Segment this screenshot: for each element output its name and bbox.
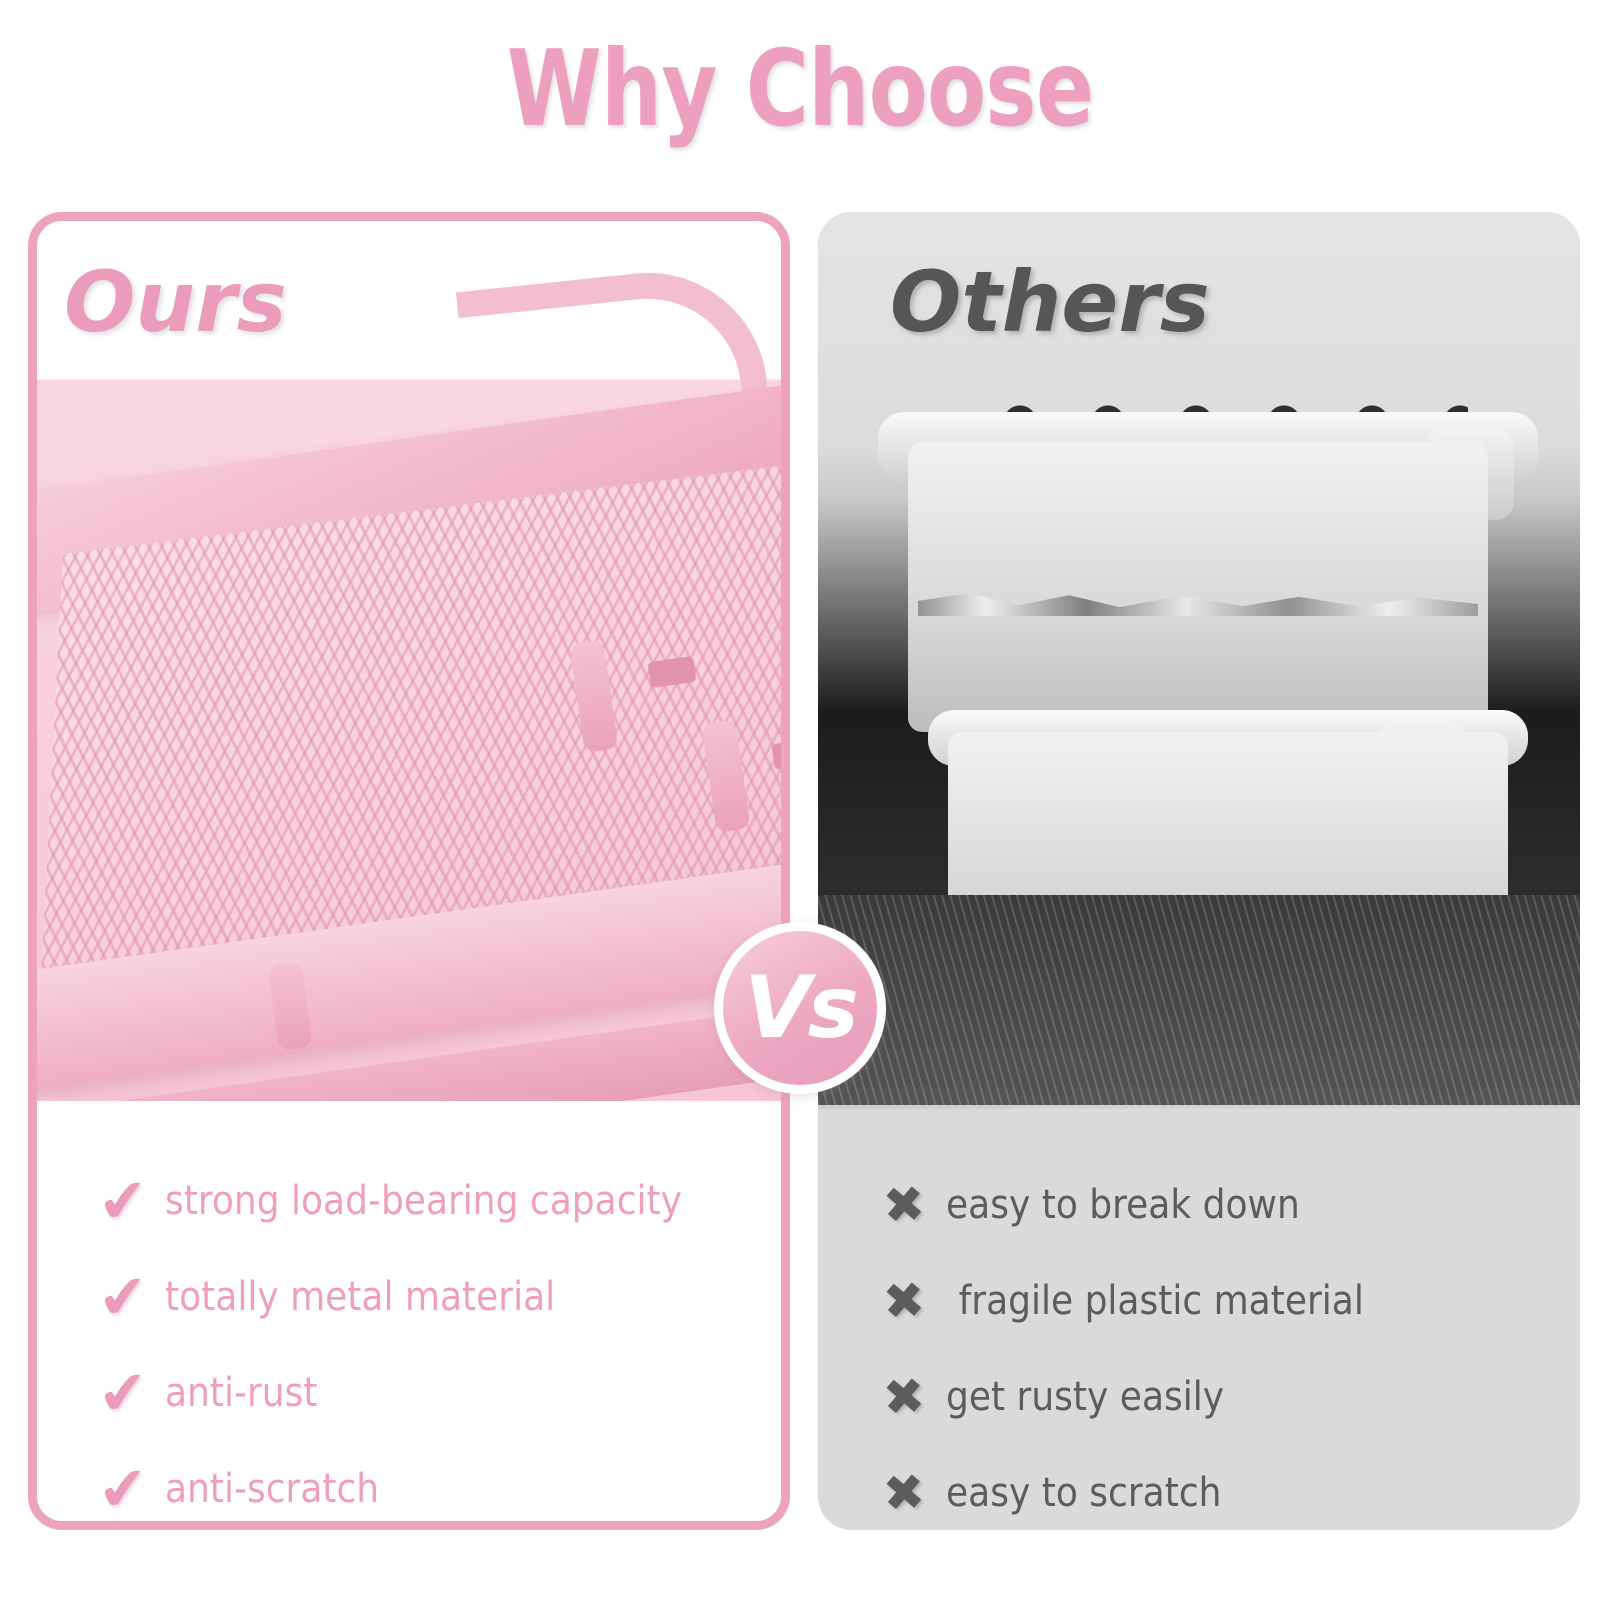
cross-icon: ✖ <box>860 1465 947 1521</box>
check-icon: ✔ <box>76 1264 170 1331</box>
ours-feature-label: anti-rust <box>165 1370 317 1416</box>
ours-feature-label: anti-scratch <box>165 1466 379 1512</box>
check-icon: ✔ <box>76 1360 170 1427</box>
ours-panel: ✔ strong load-bearing capacity ✔ totally… <box>28 212 790 1530</box>
page-title: Why Choose <box>144 28 1456 150</box>
basket-upper-body <box>908 442 1488 732</box>
others-feature-list: ✖ easy to break down ✖ fragile plastic m… <box>818 1109 1580 1530</box>
list-item: ✖ get rusty easily <box>862 1349 1580 1445</box>
others-feature-label: get rusty easily <box>946 1374 1224 1420</box>
check-icon: ✔ <box>76 1456 170 1523</box>
list-item: ✖ fragile plastic material <box>862 1253 1580 1349</box>
list-item: ✔ totally metal material <box>81 1249 781 1345</box>
check-icon: ✔ <box>76 1168 170 1235</box>
list-item: ✔ anti-rust <box>81 1345 781 1441</box>
ours-product-photo <box>37 221 781 1101</box>
others-panel: ✖ easy to break down ✖ fragile plastic m… <box>818 212 1580 1530</box>
vs-badge: Vs <box>714 922 886 1094</box>
others-feature-label: easy to break down <box>946 1182 1300 1228</box>
ours-feature-label: strong load-bearing capacity <box>165 1178 682 1224</box>
list-item: ✖ easy to break down <box>862 1157 1580 1253</box>
cross-icon: ✖ <box>860 1369 947 1425</box>
others-heading: Others <box>890 253 1210 351</box>
ours-feature-list: ✔ strong load-bearing capacity ✔ totally… <box>37 1105 781 1521</box>
ours-feature-label: totally metal material <box>165 1274 555 1320</box>
others-feature-label: easy to scratch <box>946 1470 1221 1516</box>
list-item: ✔ anti-scratch <box>81 1441 781 1530</box>
ours-heading: Ours <box>64 253 287 351</box>
others-feature-label: fragile plastic material <box>946 1278 1364 1324</box>
list-item: ✔ strong load-bearing capacity <box>81 1153 781 1249</box>
wood-floor <box>818 895 1580 1105</box>
vs-label: Vs <box>744 965 856 1051</box>
cross-icon: ✖ <box>860 1273 947 1329</box>
list-item: ✖ easy to scratch <box>862 1445 1580 1530</box>
cross-icon: ✖ <box>860 1177 947 1233</box>
